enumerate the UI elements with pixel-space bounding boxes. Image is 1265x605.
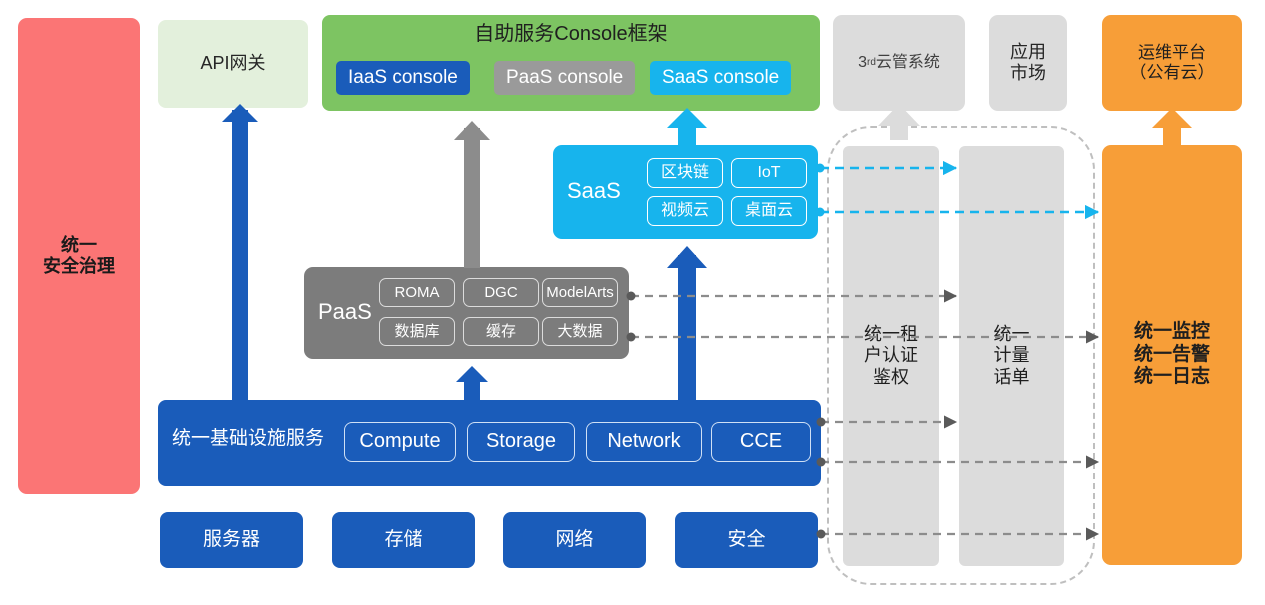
infrastructure-bar-label: 统一基础设施服务 (172, 428, 324, 450)
security-governance-panel[interactable]: 统一 安全治理 (18, 18, 140, 494)
paas-console-chip[interactable]: PaaS console (494, 61, 635, 95)
infra-chip-compute[interactable]: Compute (344, 422, 456, 462)
infra-chip-cce[interactable]: CCE (711, 422, 811, 462)
paas-layer-box[interactable]: PaaS ROMA DGC ModelArts 数据库 缓存 大数据 (304, 267, 629, 359)
third-cloud-superscript: rd (867, 57, 876, 69)
unified-tenant-auth-column[interactable]: 统一租 户认证 鉴权 (843, 146, 939, 566)
paas-chip-modelarts[interactable]: ModelArts (542, 278, 618, 307)
saas-layer-label: SaaS (567, 178, 621, 204)
arrow-infra-to-api-gateway (222, 104, 258, 400)
ops-platform-box[interactable]: 运维平台 （公有云） (1102, 15, 1242, 111)
arrow-paas-to-console (454, 121, 490, 268)
saas-chip-video-cloud[interactable]: 视频云 (647, 196, 723, 226)
arrow-saas-to-saas-console (667, 108, 707, 146)
infra-chip-storage[interactable]: Storage (467, 422, 575, 462)
hardware-box-security[interactable]: 安全 (675, 512, 818, 568)
infrastructure-bar[interactable]: 统一基础设施服务 Compute Storage Network CCE (158, 400, 821, 486)
paas-chip-dgc[interactable]: DGC (463, 278, 539, 307)
ops-monitoring-column[interactable]: 统一监控 统一告警 统一日志 (1102, 145, 1242, 565)
infra-chip-network[interactable]: Network (586, 422, 702, 462)
iaas-console-chip[interactable]: IaaS console (336, 61, 470, 95)
saas-chip-blockchain[interactable]: 区块链 (647, 158, 723, 188)
api-gateway-box[interactable]: API网关 (158, 20, 308, 108)
arrow-infra-to-paas (456, 366, 488, 400)
third-party-cloud-mgmt-box[interactable]: 3rd云管系统 (833, 15, 965, 111)
paas-layer-label: PaaS (318, 299, 372, 325)
unified-metering-column[interactable]: 统一 计量 话单 (959, 146, 1064, 566)
arrow-ops-column-to-ops-platform (1152, 108, 1192, 146)
arrow-infra-to-saas (667, 246, 707, 400)
saas-chip-desktop-cloud[interactable]: 桌面云 (731, 196, 807, 226)
saas-layer-box[interactable]: SaaS 区块链 IoT 视频云 桌面云 (553, 145, 818, 239)
app-market-box[interactable]: 应用 市场 (989, 15, 1067, 111)
architecture-diagram: 统一 安全治理 API网关 自助服务Console框架 IaaS console… (0, 0, 1265, 605)
paas-chip-cache[interactable]: 缓存 (463, 317, 539, 346)
console-frame-title: 自助服务Console框架 (322, 23, 820, 47)
paas-chip-bigdata[interactable]: 大数据 (542, 317, 618, 346)
third-cloud-label: 云管系统 (876, 54, 940, 73)
third-cloud-prefix: 3 (858, 54, 867, 73)
paas-chip-database[interactable]: 数据库 (379, 317, 455, 346)
saas-console-chip[interactable]: SaaS console (650, 61, 791, 95)
hardware-box-server[interactable]: 服务器 (160, 512, 303, 568)
hardware-box-network[interactable]: 网络 (503, 512, 646, 568)
paas-chip-roma[interactable]: ROMA (379, 278, 455, 307)
hardware-box-storage[interactable]: 存储 (332, 512, 475, 568)
console-frame-box[interactable]: 自助服务Console框架 IaaS console PaaS console … (322, 15, 820, 111)
saas-chip-iot[interactable]: IoT (731, 158, 807, 188)
